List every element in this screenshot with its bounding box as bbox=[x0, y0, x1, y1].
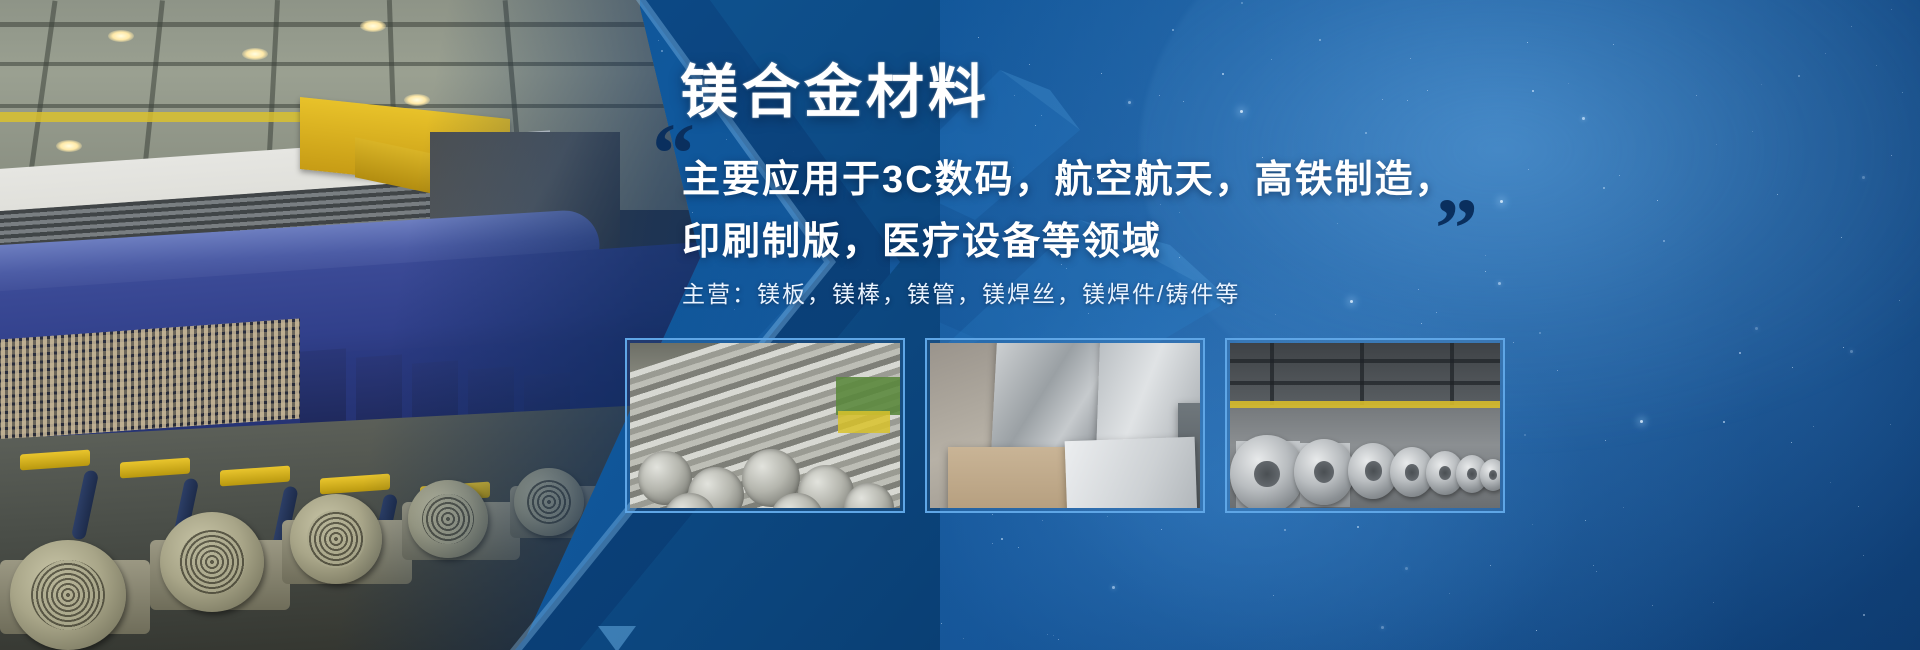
subtitle-line-1: 主要应用于3C数码，航空航天，高铁制造， bbox=[682, 148, 1455, 203]
magnesium-bars-thumb[interactable] bbox=[625, 338, 905, 513]
product-thumbnail-list bbox=[625, 338, 1605, 523]
magnesium-coils-warehouse-thumb[interactable] bbox=[1225, 338, 1505, 513]
magnesium-plates-thumb[interactable] bbox=[925, 338, 1205, 513]
subtitle-line-2: 印刷制版，医疗设备等领域 bbox=[682, 210, 1162, 265]
banner-content: 镁合金材料 “ 主要应用于3C数码，航空航天，高铁制造， 印刷制版，医疗设备等领… bbox=[620, 0, 1920, 650]
product-banner: 镁合金材料 “ 主要应用于3C数码，航空航天，高铁制造， 印刷制版，医疗设备等领… bbox=[0, 0, 1920, 650]
tagline-text: 主营：镁板，镁棒，镁管，镁焊丝，镁焊件/铸件等 bbox=[682, 275, 1240, 309]
quote-close-icon: ” bbox=[1435, 185, 1478, 271]
page-title: 镁合金材料 bbox=[680, 45, 990, 129]
